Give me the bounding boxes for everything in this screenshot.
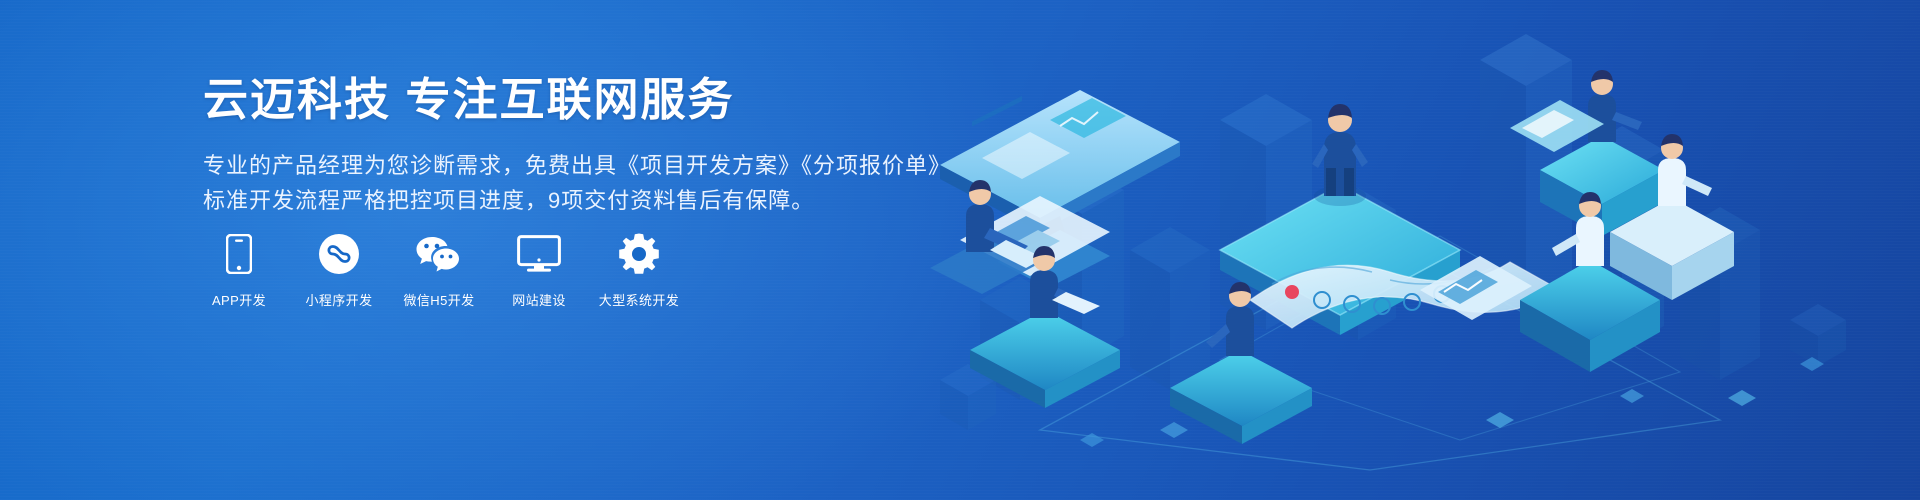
- service-list: APP开发 小程序开发 微信: [203, 232, 703, 309]
- hero-banner: 云迈科技 专注互联网服务 专业的产品经理为您诊断需求，免费出具《项目开发方案》《…: [0, 0, 1920, 500]
- service-label-website: 网站建设: [512, 290, 566, 309]
- mini-program-icon: [318, 232, 360, 276]
- service-item-wechat-h5[interactable]: 微信H5开发: [403, 232, 475, 309]
- service-item-website[interactable]: 网站建设: [503, 232, 575, 309]
- gear-icon: [618, 232, 660, 276]
- subtitle-line-1: 专业的产品经理为您诊断需求，免费出具《项目开发方案》《分项报价单》: [203, 148, 951, 184]
- page-title: 云迈科技 专注互联网服务: [203, 74, 951, 126]
- mobile-phone-icon: [226, 232, 252, 276]
- service-label-large-system: 大型系统开发: [599, 290, 679, 309]
- service-item-large-system[interactable]: 大型系统开发: [603, 232, 675, 309]
- service-label-wechat-h5: 微信H5开发: [403, 290, 474, 309]
- person-upper-right: [1588, 70, 1642, 142]
- person-middle-right: [1658, 134, 1712, 206]
- banner-text-block: 云迈科技 专注互联网服务 专业的产品经理为您诊断需求，免费出具《项目开发方案》《…: [203, 74, 951, 219]
- banner-subtitle: 专业的产品经理为您诊断需求，免费出具《项目开发方案》《分项报价单》 标准开发流程…: [203, 148, 951, 219]
- person-standing-center: [1312, 104, 1368, 206]
- illustration-isometric-team-dashboard: [920, 0, 1920, 500]
- service-item-miniprogram[interactable]: 小程序开发: [303, 232, 375, 309]
- service-label-app: APP开发: [212, 290, 266, 309]
- person-bottom-right: [1206, 282, 1254, 356]
- service-item-app[interactable]: APP开发: [203, 232, 275, 309]
- wechat-icon: [415, 232, 463, 276]
- monitor-icon: [517, 232, 561, 276]
- service-label-miniprogram: 小程序开发: [305, 290, 372, 309]
- subtitle-line-2: 标准开发流程严格把控项目进度，9项交付资料售后有保障。: [203, 183, 951, 219]
